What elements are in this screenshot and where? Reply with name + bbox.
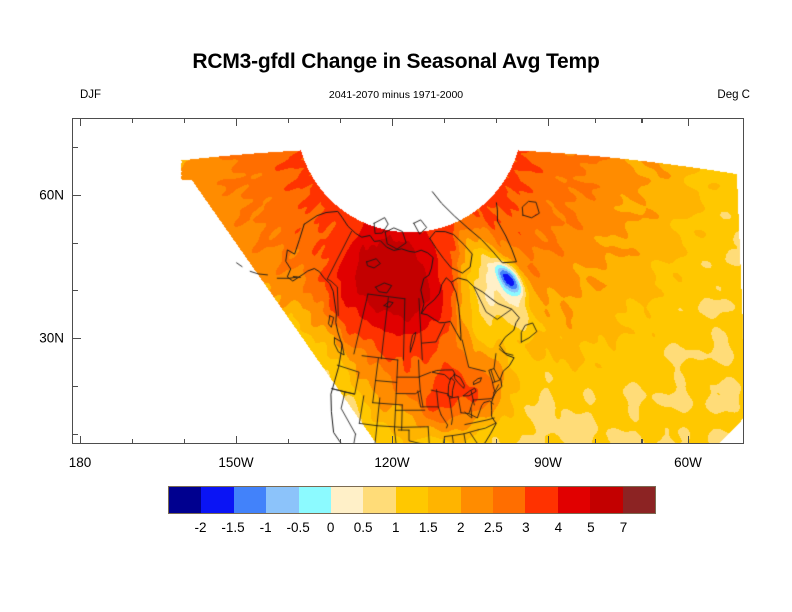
x-axis-tick-major xyxy=(688,118,689,126)
x-axis-tick-minor xyxy=(641,439,642,444)
x-axis-tick-major xyxy=(688,436,689,444)
colorbar-swatch xyxy=(363,487,395,513)
x-axis-tick-minor xyxy=(496,439,497,444)
colorbar-tick-label: 5 xyxy=(587,520,595,535)
climate-map-figure: RCM3-gfdl Change in Seasonal Avg Temp 20… xyxy=(0,0,792,612)
colorbar-tick-label: -2 xyxy=(195,520,207,535)
x-axis-tick-major xyxy=(548,118,549,126)
page-title: RCM3-gfdl Change in Seasonal Avg Temp xyxy=(0,50,792,74)
y-axis-tick-minor xyxy=(72,386,78,387)
x-axis-tick-minor xyxy=(496,118,497,123)
x-axis-tick-minor xyxy=(444,439,445,444)
colorbar-tick-label: -1 xyxy=(260,520,272,535)
x-axis-tick-major xyxy=(548,436,549,444)
x-axis-tick-major xyxy=(236,118,237,126)
x-axis-tick-major xyxy=(392,436,393,444)
x-axis-tick-minor xyxy=(288,118,289,123)
x-axis-tick-major xyxy=(392,118,393,126)
x-axis-tick-major xyxy=(236,436,237,444)
colorbar-tick-label: 3 xyxy=(522,520,530,535)
x-axis-label: 60W xyxy=(674,455,702,470)
x-axis-tick-minor xyxy=(595,439,596,444)
colorbar-tick-label: -0.5 xyxy=(286,520,309,535)
x-axis-tick-minor xyxy=(184,439,185,444)
x-axis-tick-minor xyxy=(132,439,133,444)
x-axis-tick-minor xyxy=(340,439,341,444)
x-axis-tick-minor xyxy=(184,118,185,123)
x-axis-tick-minor xyxy=(595,118,596,123)
y-axis-label: 60N xyxy=(20,188,64,203)
y-axis-label: 30N xyxy=(20,331,64,346)
y-axis-tick-major xyxy=(72,195,81,196)
colorbar-swatch xyxy=(525,487,557,513)
colorbar-swatch xyxy=(201,487,233,513)
colorbar-swatch xyxy=(331,487,363,513)
y-axis-tick-minor xyxy=(72,147,78,148)
colorbar-swatch xyxy=(623,487,655,513)
colorbar-tick-label: 4 xyxy=(555,520,563,535)
colorbar-swatch xyxy=(266,487,298,513)
x-axis-tick-major xyxy=(80,436,81,444)
x-axis-tick-minor xyxy=(340,118,341,123)
colorbar-swatch xyxy=(590,487,622,513)
y-axis-tick-major xyxy=(72,338,81,339)
x-axis-label: 120W xyxy=(374,455,409,470)
y-axis-tick-minor xyxy=(72,434,78,435)
colorbar-swatch xyxy=(234,487,266,513)
map-canvas xyxy=(73,119,744,444)
colorbar-swatch xyxy=(299,487,331,513)
y-axis-tick-minor xyxy=(72,290,78,291)
colorbar-tick-label: 2 xyxy=(457,520,465,535)
map-plot-area xyxy=(72,118,744,444)
colorbar-tick-label: -1.5 xyxy=(221,520,244,535)
x-axis-tick-minor xyxy=(444,118,445,123)
x-axis-label: 180 xyxy=(69,455,92,470)
colorbar-tick-label: 1 xyxy=(392,520,400,535)
x-axis-tick-major xyxy=(80,118,81,126)
x-axis-label: 150W xyxy=(218,455,253,470)
x-axis-tick-minor xyxy=(641,118,642,123)
colorbar-swatch xyxy=(461,487,493,513)
colorbar-swatch xyxy=(169,487,201,513)
colorbar-tick-label: 7 xyxy=(620,520,628,535)
x-axis-label: 90W xyxy=(534,455,562,470)
colorbar-swatch xyxy=(428,487,460,513)
colorbar-tick-label: 0 xyxy=(327,520,335,535)
y-axis-tick-minor xyxy=(72,243,78,244)
x-axis-tick-minor xyxy=(132,118,133,123)
colorbar-tick-label: 1.5 xyxy=(419,520,438,535)
colorbar-swatch xyxy=(493,487,525,513)
colorbar-swatch xyxy=(396,487,428,513)
season-label: DJF xyxy=(80,89,101,101)
x-axis-tick-minor xyxy=(288,439,289,444)
colorbar-tick-label: 2.5 xyxy=(484,520,503,535)
units-label: Deg C xyxy=(717,89,750,101)
colorbar xyxy=(168,486,656,514)
colorbar-swatch xyxy=(558,487,590,513)
colorbar-tick-label: 0.5 xyxy=(354,520,373,535)
subtitle: 2041-2070 minus 1971-2000 xyxy=(0,89,792,101)
